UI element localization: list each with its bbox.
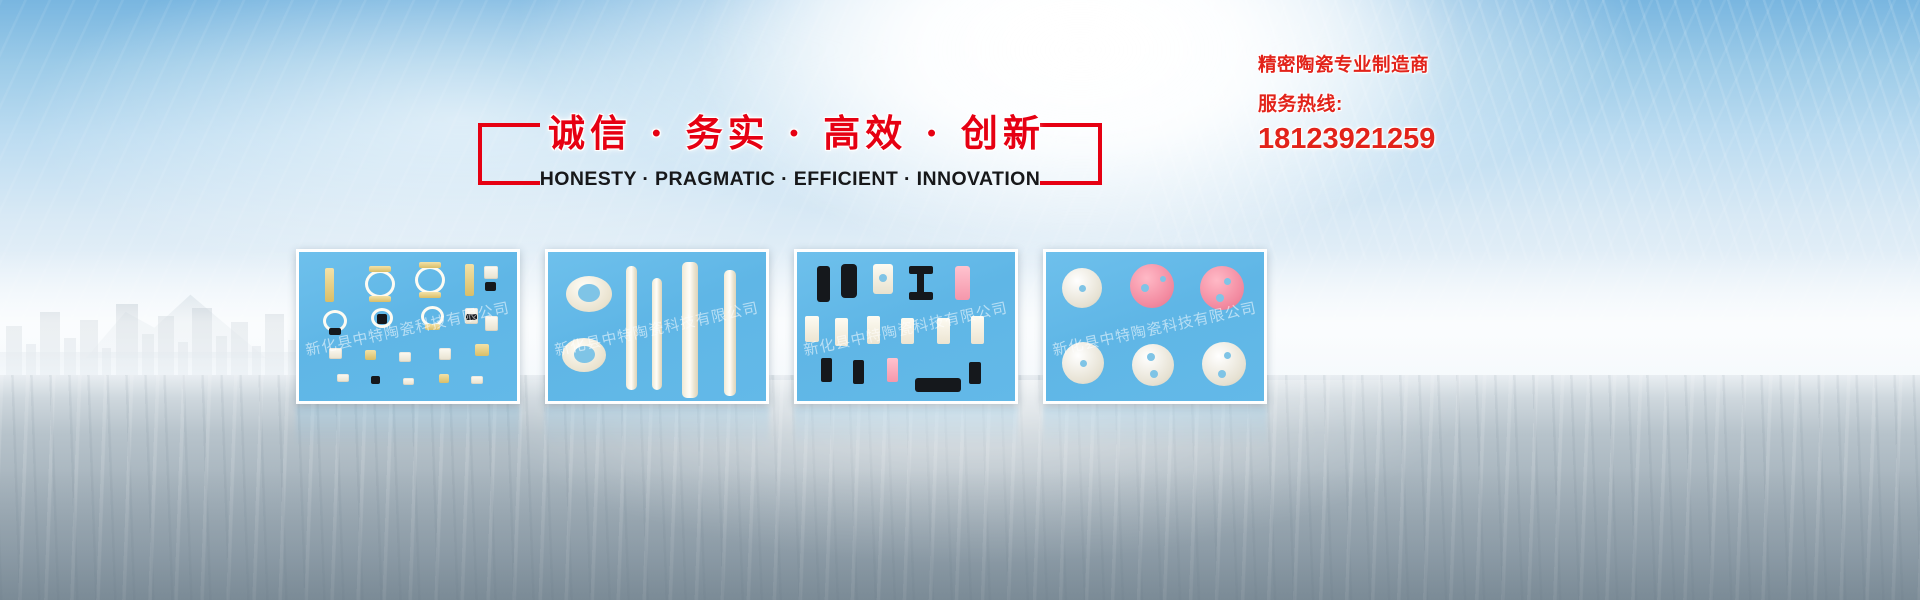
bracket-right-side xyxy=(1098,123,1102,185)
slogan-english: HONESTY · PRAGMATIC · EFFICIENT · INNOVA… xyxy=(538,167,1042,191)
panel-reflection xyxy=(1043,407,1267,447)
slogan-chinese: 诚信 · 务实 · 高效 · 创新 xyxy=(548,105,1032,161)
bracket-left-bottom xyxy=(478,181,540,185)
product-panel-insulators[interactable]: 新化县中特陶瓷科技有限公司 xyxy=(794,249,1018,404)
bracket-left-top xyxy=(478,123,540,127)
product-panel-rings-tubes[interactable]: 新化县中特陶瓷科技有限公司 xyxy=(545,249,769,404)
product-panel-chips[interactable]: 新化县中特陶瓷科技有限公司 xyxy=(296,249,520,404)
product-gallery: 新化县中特陶瓷科技有限公司 新化县中特陶瓷科技有限公司 xyxy=(296,249,1528,404)
bracket-right-bottom xyxy=(1040,181,1102,185)
panel-reflection xyxy=(794,407,1018,447)
bracket-right-top xyxy=(1040,123,1102,127)
ground-shadow xyxy=(0,470,1920,600)
hotline-label: 服务热线: xyxy=(1258,92,1498,118)
slogan-block: 诚信 · 务实 · 高效 · 创新 HONESTY · PRAGMATIC · … xyxy=(470,105,1110,205)
hotline-number[interactable]: 18123921259 xyxy=(1258,122,1498,156)
product-panel-discs[interactable]: 新化县中特陶瓷科技有限公司 xyxy=(1043,249,1267,404)
bracket-left-side xyxy=(478,123,482,185)
panel-reflection xyxy=(296,407,520,447)
panel-reflection xyxy=(545,407,769,447)
promo-banner: 诚信 · 务实 · 高效 · 创新 HONESTY · PRAGMATIC · … xyxy=(0,0,1920,600)
contact-block: 精密陶瓷专业制造商 服务热线: 18123921259 xyxy=(1258,50,1498,156)
company-tagline: 精密陶瓷专业制造商 xyxy=(1258,50,1498,80)
